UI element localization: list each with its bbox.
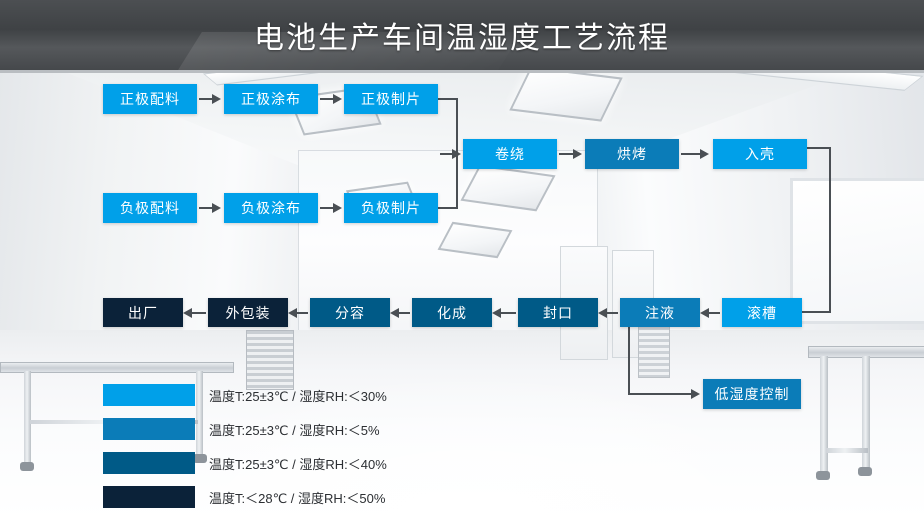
arrow-head-right (700, 149, 709, 159)
process-node-bottom-6[interactable]: 滚槽 (722, 298, 802, 327)
legend-color-swatch (103, 418, 195, 440)
legend-item-2: 温度T:25±3℃ / 湿度RH:＜40% (103, 451, 387, 475)
arrow-head-right (573, 149, 582, 159)
process-node-cathode-0[interactable]: 正极配料 (103, 84, 197, 114)
connector-line (320, 98, 334, 100)
wall-whiteboard (790, 178, 924, 324)
connector-line (681, 153, 701, 155)
process-node-label: 化成 (437, 303, 467, 323)
table-foot (20, 462, 34, 471)
arrow-head-right (333, 203, 342, 213)
process-node-cathode-1[interactable]: 正极涂布 (224, 84, 318, 114)
process-node-bottom-0[interactable]: 出厂 (103, 298, 183, 327)
arrow-head-left (390, 308, 399, 318)
process-node-label: 外包装 (226, 303, 271, 323)
cleanroom-background-photo (0, 0, 924, 520)
arrow-head-right (691, 389, 700, 399)
legend-item-label: 温度T:＜28℃ / 湿度RH:＜50% (209, 488, 385, 507)
process-node-bottom-1[interactable]: 外包装 (208, 298, 288, 327)
arrow-head-left (492, 308, 501, 318)
process-node-label: 滚槽 (747, 303, 777, 323)
legend-item-0: 温度T:25±3℃ / 湿度RH:＜30% (103, 383, 387, 407)
connector-line (628, 327, 630, 394)
banner-bottom-edge (0, 70, 924, 73)
process-node-middle-2[interactable]: 入壳 (713, 139, 807, 169)
process-node-anode-0[interactable]: 负极配料 (103, 193, 197, 223)
legend-item-label: 温度T:25±3℃ / 湿度RH:＜30% (209, 386, 387, 405)
process-node-bottom-5[interactable]: 注液 (620, 298, 700, 327)
connector-line (438, 98, 458, 100)
wall-vent-louvre (638, 326, 670, 378)
process-node-label: 分容 (335, 303, 365, 323)
legend-color-swatch (103, 452, 195, 474)
table-leg (24, 371, 31, 463)
process-node-label: 烘烤 (617, 144, 647, 164)
process-node-label: 出厂 (128, 303, 158, 323)
process-node-label: 正极配料 (120, 89, 180, 109)
connector-line (199, 207, 213, 209)
process-node-anode-2[interactable]: 负极制片 (344, 193, 438, 223)
process-node-label: 封口 (543, 303, 573, 323)
process-node-label: 入壳 (745, 144, 775, 164)
process-node-anode-1[interactable]: 负极涂布 (224, 193, 318, 223)
process-node-middle-1[interactable]: 烘烤 (585, 139, 679, 169)
arrow-head-right (333, 94, 342, 104)
slide-canvas: 电池生产车间温湿度工艺流程 正极配料正极涂布正极制片负极配料负极涂布负极制片卷绕… (0, 0, 924, 520)
process-node-label: 正极制片 (361, 89, 421, 109)
process-node-label: 正极涂布 (241, 89, 301, 109)
process-node-label: 卷绕 (495, 144, 525, 164)
legend-color-swatch (103, 384, 195, 406)
arrow-head-left (598, 308, 607, 318)
process-node-bottom-2[interactable]: 分容 (310, 298, 390, 327)
process-node-bottom-3[interactable]: 化成 (412, 298, 492, 327)
process-node-bottom-4[interactable]: 封口 (518, 298, 598, 327)
page-title: 电池生产车间温湿度工艺流程 (0, 0, 924, 70)
process-node-aux-0[interactable]: 低湿度控制 (703, 379, 801, 409)
connector-line (438, 207, 458, 209)
wall-vent-louvre (246, 330, 294, 390)
process-node-cathode-2[interactable]: 正极制片 (344, 84, 438, 114)
connector-line (199, 98, 213, 100)
legend-item-label: 温度T:25±3℃ / 湿度RH:＜5% (209, 420, 380, 439)
legend-item-3: 温度T:＜28℃ / 湿度RH:＜50% (103, 485, 385, 509)
connector-line (829, 147, 831, 313)
legend-item-label: 温度T:25±3℃ / 湿度RH:＜40% (209, 454, 387, 473)
legend-item-1: 温度T:25±3℃ / 湿度RH:＜5% (103, 417, 380, 441)
connector-line (320, 207, 334, 209)
table-leg (820, 356, 828, 472)
table-foot (816, 471, 830, 480)
arrow-head-right (452, 149, 461, 159)
arrow-head-left (183, 308, 192, 318)
process-node-label: 低湿度控制 (715, 384, 790, 404)
table-foot (858, 467, 872, 476)
process-node-label: 注液 (645, 303, 675, 323)
arrow-head-right (212, 203, 221, 213)
process-node-middle-0[interactable]: 卷绕 (463, 139, 557, 169)
arrow-head-right (212, 94, 221, 104)
connector-line (807, 147, 831, 149)
process-node-label: 负极制片 (361, 198, 421, 218)
connector-line (628, 393, 692, 395)
legend-color-swatch (103, 486, 195, 508)
process-node-label: 负极配料 (120, 198, 180, 218)
arrow-head-left (288, 308, 297, 318)
table-crossbar (826, 448, 868, 453)
process-node-label: 负极涂布 (241, 198, 301, 218)
arrow-head-left (700, 308, 709, 318)
connector-line (559, 153, 574, 155)
